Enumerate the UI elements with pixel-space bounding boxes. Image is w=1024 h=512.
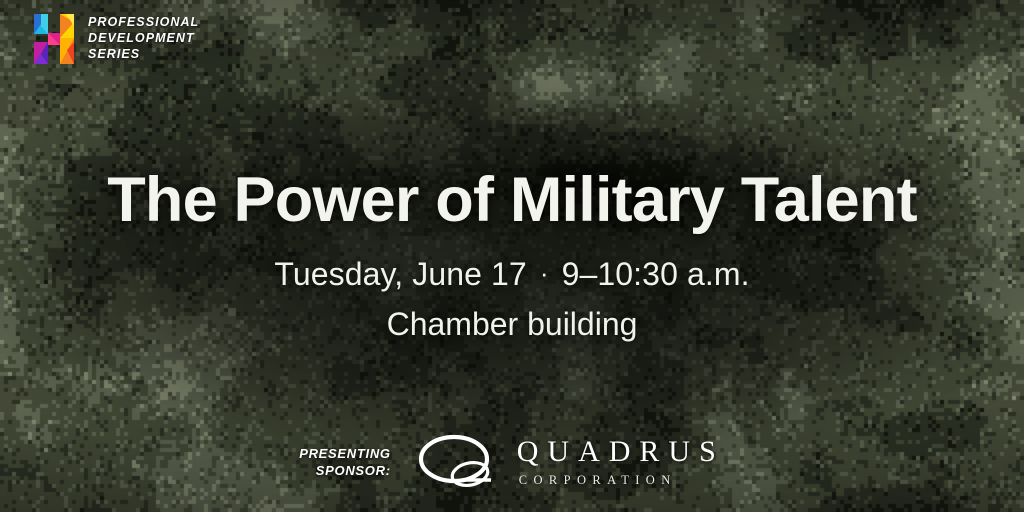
event-title: The Power of Military Talent bbox=[0, 168, 1024, 232]
content-layer: PROFESSIONAL DEVELOPMENT SERIES The Powe… bbox=[0, 0, 1024, 512]
event-date: Tuesday, June 17 bbox=[274, 256, 526, 292]
event-location: Chamber building bbox=[0, 306, 1024, 344]
event-headline-block: The Power of Military Talent Tuesday, Ju… bbox=[0, 168, 1024, 344]
quadrus-name: QUADRUS bbox=[517, 437, 725, 467]
pds-brand-lockup: PROFESSIONAL DEVELOPMENT SERIES bbox=[30, 12, 199, 66]
datetime-separator: · bbox=[527, 258, 562, 288]
pds-h-monogram-icon bbox=[30, 12, 78, 66]
event-time: 9–10:30 a.m. bbox=[562, 256, 750, 292]
sponsor-lockup: PRESENTING SPONSOR: QUADRUS CORPORATION bbox=[0, 434, 1024, 490]
quadrus-subtitle: CORPORATION bbox=[519, 474, 725, 487]
pds-brand-wordmark: PROFESSIONAL DEVELOPMENT SERIES bbox=[88, 15, 199, 62]
quadrus-q-ring-icon bbox=[413, 434, 505, 490]
presenting-sponsor-label: PRESENTING SPONSOR: bbox=[299, 445, 391, 480]
quadrus-wordmark: QUADRUS CORPORATION bbox=[517, 437, 725, 487]
promo-graphic: PROFESSIONAL DEVELOPMENT SERIES The Powe… bbox=[0, 0, 1024, 512]
event-datetime: Tuesday, June 17·9–10:30 a.m. bbox=[0, 256, 1024, 294]
quadrus-logo: QUADRUS CORPORATION bbox=[413, 434, 725, 490]
